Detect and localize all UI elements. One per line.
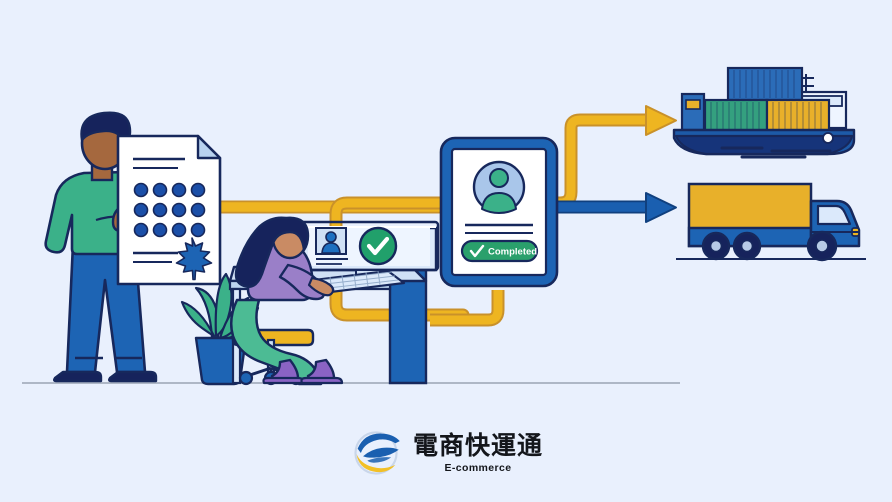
man-shoe-right (109, 372, 156, 381)
logo-blue-swoosh-2 (367, 457, 391, 463)
container-yellow (767, 100, 829, 132)
ship-porthole (823, 133, 833, 143)
brand-name-cn: 電商快運通 (413, 433, 543, 458)
container-blue (728, 68, 802, 100)
status-badge-label: Completed (488, 247, 537, 258)
status-badge: Completed (462, 241, 537, 261)
status-card: Completed (441, 138, 557, 286)
check-circle-icon (360, 228, 396, 264)
container-green (705, 100, 767, 132)
desk-side-panel (390, 270, 426, 383)
illustration-canvas: Completed (0, 0, 892, 502)
man-shoe-left (54, 372, 101, 381)
document-card (118, 136, 220, 284)
brand-name-en: E-commerce (444, 463, 511, 474)
brand-lockup: 電商快運通 E-commerce (0, 424, 892, 482)
user-avatar-icon (474, 162, 524, 213)
swoosh-circle-logo (349, 426, 403, 480)
brand-text: 電商快運通 E-commerce (413, 433, 543, 474)
